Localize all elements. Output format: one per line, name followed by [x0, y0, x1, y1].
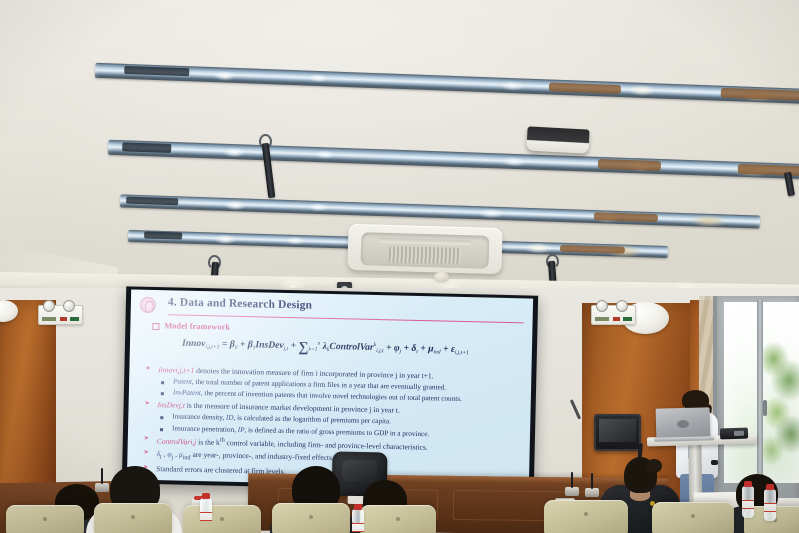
- ac-vent: [379, 237, 471, 245]
- microphone[interactable]: [95, 483, 109, 492]
- water-bottle[interactable]: [200, 498, 212, 518]
- water-bottle[interactable]: [352, 509, 364, 525]
- audience-chair[interactable]: [360, 505, 436, 533]
- ac-grill: [389, 246, 461, 265]
- ac-inner-panel: [361, 232, 490, 269]
- university-emblem-icon: [140, 297, 156, 313]
- emergency-light-right: [591, 305, 636, 325]
- water-bottle[interactable]: [764, 489, 776, 521]
- microphone[interactable]: [565, 487, 579, 496]
- audience-chair[interactable]: [652, 502, 734, 533]
- emergency-lamp-icon: [63, 300, 75, 312]
- wall-monitor-screen: [599, 419, 636, 442]
- ceiling-projector: [526, 126, 589, 153]
- smoke-detector-icon: [434, 272, 449, 281]
- audience-chair[interactable]: [272, 503, 350, 533]
- emergency-label: [42, 316, 79, 322]
- wall-monitor[interactable]: [594, 414, 641, 451]
- slide-section-heading: Model framework: [164, 321, 230, 331]
- audience-chair[interactable]: [94, 503, 172, 533]
- audience-chair[interactable]: [6, 505, 84, 533]
- section-bullet-icon: [152, 323, 159, 330]
- microphone[interactable]: [585, 488, 599, 497]
- conference-room-photo: 4. Data and Research Design Model framew…: [0, 0, 799, 533]
- podium-device[interactable]: [720, 428, 748, 440]
- laptop-lid: [656, 407, 711, 438]
- model-equation: Innovi,j,t+1 = β0 + β1InsDevj,t + ∑k=1n …: [182, 338, 522, 362]
- attendee-hair-bun: [646, 459, 662, 473]
- emergency-light-left: [38, 305, 83, 325]
- outdoor-foliage: [763, 335, 799, 469]
- emergency-label: [595, 316, 632, 322]
- air-conditioner-cassette: [347, 224, 502, 274]
- slide-title: 4. Data and Research Design: [168, 296, 517, 316]
- water-bottle[interactable]: [742, 486, 754, 518]
- audience-chair[interactable]: [183, 505, 261, 533]
- emergency-lamp-icon: [616, 300, 628, 312]
- emergency-lamp-icon: [596, 300, 608, 312]
- audience-chair[interactable]: [544, 500, 628, 533]
- presenter-laptop[interactable]: [654, 407, 715, 442]
- emergency-lamp-icon: [43, 300, 55, 312]
- window-mullion: [757, 300, 763, 485]
- window-handle[interactable]: [763, 400, 767, 416]
